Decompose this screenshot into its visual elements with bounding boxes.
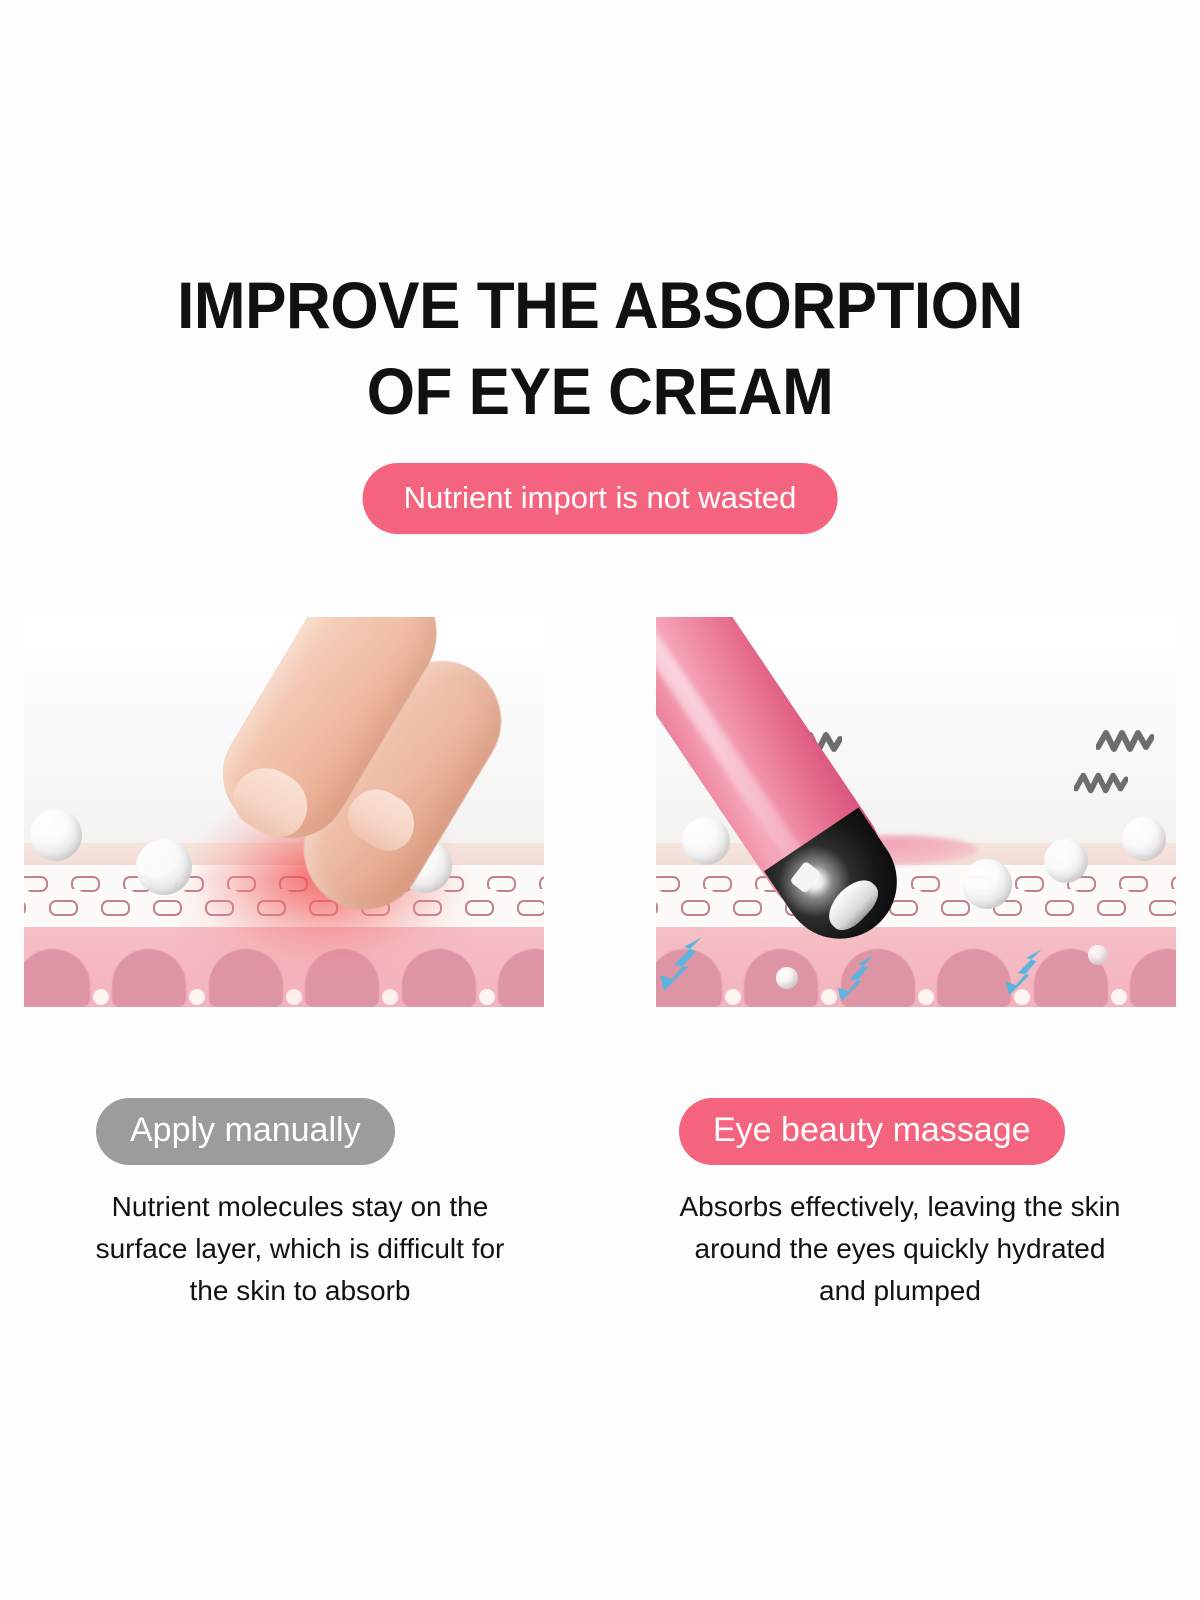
papilla	[24, 949, 90, 1007]
panel-apply-manually-image	[24, 617, 544, 1007]
headline-line-2: OF EYE CREAM	[36, 348, 1164, 434]
papilla	[498, 949, 544, 1007]
illustration-panels	[24, 617, 1176, 1007]
nutrient-pearl	[1122, 817, 1166, 861]
nutrient-pearl	[776, 967, 798, 989]
epidermis-cell-row-lower	[656, 889, 1176, 927]
skin-cell	[24, 889, 35, 927]
vibration-mark-icon	[1074, 769, 1128, 797]
nutrient-pearl	[136, 839, 192, 895]
skin-cell	[508, 889, 544, 927]
caption-line-1: Nutrient molecules stay on the	[48, 1186, 552, 1228]
caption-line-3: the skin to absorb	[48, 1270, 552, 1312]
headline-line-1: IMPROVE THE ABSORPTION	[36, 262, 1164, 348]
papilla-gap-dot	[93, 989, 109, 1005]
nutrient-pearl	[682, 817, 730, 865]
papilla	[1130, 949, 1176, 1007]
panel-captions: Nutrient molecules stay on the surface l…	[0, 1186, 1200, 1312]
panel-eye-beauty-massage-image	[656, 617, 1176, 1007]
nutrient-pearl	[1044, 839, 1088, 883]
nutrient-pearl	[1088, 945, 1108, 965]
papilla-gap-dot	[725, 989, 741, 1005]
caption-eye-beauty-massage: Absorbs effectively, leaving the skin ar…	[600, 1186, 1200, 1312]
caption-line-3: and plumped	[648, 1270, 1152, 1312]
skin-cell	[672, 889, 719, 927]
panel-labels: Apply manually Eye beauty massage	[0, 1098, 1200, 1162]
caption-line-2: surface layer, which is difficult for	[48, 1228, 552, 1270]
skin-cell	[724, 889, 771, 927]
label-apply-manually: Apply manually	[96, 1098, 395, 1165]
label-eye-beauty-massage: Eye beauty massage	[679, 1098, 1065, 1165]
absorption-arrow-icon	[836, 953, 882, 1007]
skin-cell	[1088, 889, 1135, 927]
infographic-page: IMPROVE THE ABSORPTION OF EYE CREAM Nutr…	[0, 0, 1200, 1600]
vibration-mark-icon	[1096, 727, 1154, 755]
papilla-gap-dot	[1111, 989, 1127, 1005]
nutrient-pearl	[30, 809, 82, 861]
skin-cell	[40, 889, 87, 927]
subtitle-badge: Nutrient import is not wasted	[363, 463, 838, 534]
absorption-arrow-icon	[658, 935, 712, 997]
page-title: IMPROVE THE ABSORPTION OF EYE CREAM	[36, 262, 1164, 434]
papilla-gap-dot	[918, 989, 934, 1005]
caption-line-1: Absorbs effectively, leaving the skin	[648, 1186, 1152, 1228]
absorption-arrow-icon	[1004, 947, 1050, 1001]
skin-cell	[92, 889, 139, 927]
skin-cell	[1140, 889, 1176, 927]
nutrient-pearl	[962, 859, 1012, 909]
tip-specular-highlight	[790, 861, 822, 894]
caption-apply-manually: Nutrient molecules stay on the surface l…	[0, 1186, 600, 1312]
papilla-gap-dot	[479, 989, 495, 1005]
caption-line-2: around the eyes quickly hydrated	[648, 1228, 1152, 1270]
skin-cell	[1036, 889, 1083, 927]
skin-cell	[656, 889, 667, 927]
papilla	[937, 949, 1011, 1007]
